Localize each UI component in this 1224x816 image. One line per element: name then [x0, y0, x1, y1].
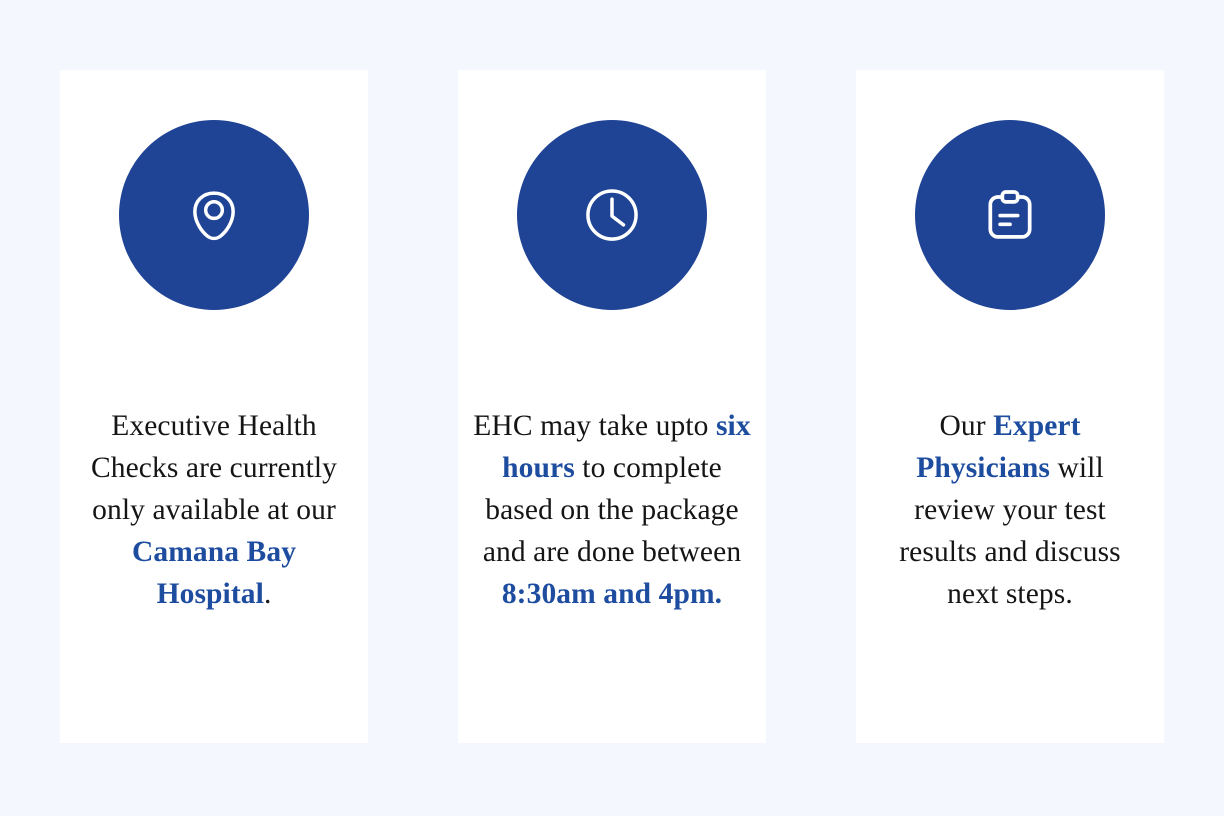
icon-badge-location: [119, 120, 309, 310]
text-segment: Our: [939, 410, 993, 442]
page-root: Executive Health Checks are currently on…: [0, 0, 1224, 816]
icon-badge-results: [915, 120, 1105, 310]
location-pin-icon: [179, 180, 249, 250]
info-card-duration: EHC may take upto six hours to complete …: [458, 70, 766, 743]
info-card-location: Executive Health Checks are currently on…: [60, 70, 368, 743]
clipboard-icon: [975, 180, 1045, 250]
info-card-text-duration: EHC may take upto six hours to complete …: [470, 405, 754, 615]
info-card-text-results: Our Expert Physicians will review your t…: [868, 405, 1152, 615]
text-segment: EHC may take upto: [473, 410, 716, 442]
clock-icon: [577, 180, 647, 250]
text-segment: .: [264, 578, 271, 610]
info-cards-row: Executive Health Checks are currently on…: [60, 70, 1164, 743]
info-card-results: Our Expert Physicians will review your t…: [856, 70, 1164, 743]
info-card-text-location: Executive Health Checks are currently on…: [72, 405, 356, 615]
text-segment: Executive Health Checks are currently on…: [91, 410, 337, 526]
text-segment-highlight: Camana Bay Hospital: [132, 536, 296, 610]
icon-badge-duration: [517, 120, 707, 310]
text-segment-highlight: 8:30am and 4pm.: [502, 578, 722, 610]
